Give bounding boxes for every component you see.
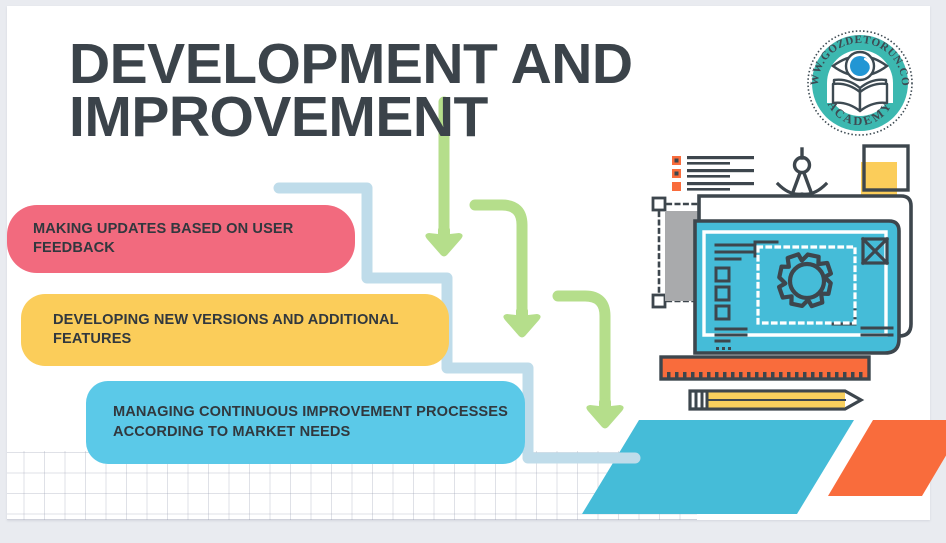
step-card-3[interactable]: MANAGING CONTINUOUS IMPROVEMENT PROCESSE…: [86, 381, 525, 464]
step-card-2-label: DEVELOPING NEW VERSIONS AND ADDITIONAL F…: [53, 311, 435, 350]
gozdetorun-academy-logo[interactable]: WWW.GOZDETORUN.COM ACADEMY: [805, 28, 915, 138]
step-card-1-label: MAKING UPDATES BASED ON USER FEEDBACK: [33, 220, 341, 259]
title-line-2: IMPROVEMENT: [69, 91, 709, 144]
arrow-2-shaft: [475, 205, 522, 319]
arrow-3-shaft: [558, 296, 605, 410]
artboard: DEVELOPMENT AND IMPROVEMENT: [7, 6, 930, 520]
step-card-1[interactable]: MAKING UPDATES BASED ON USER FEEDBACK: [7, 205, 355, 273]
step-card-2[interactable]: DEVELOPING NEW VERSIONS AND ADDITIONAL F…: [21, 294, 449, 366]
step-card-3-label: MANAGING CONTINUOUS IMPROVEMENT PROCESSE…: [113, 403, 511, 442]
page-title: DEVELOPMENT AND IMPROVEMENT: [69, 38, 709, 144]
infographic-slide: DEVELOPMENT AND IMPROVEMENT: [0, 0, 946, 543]
